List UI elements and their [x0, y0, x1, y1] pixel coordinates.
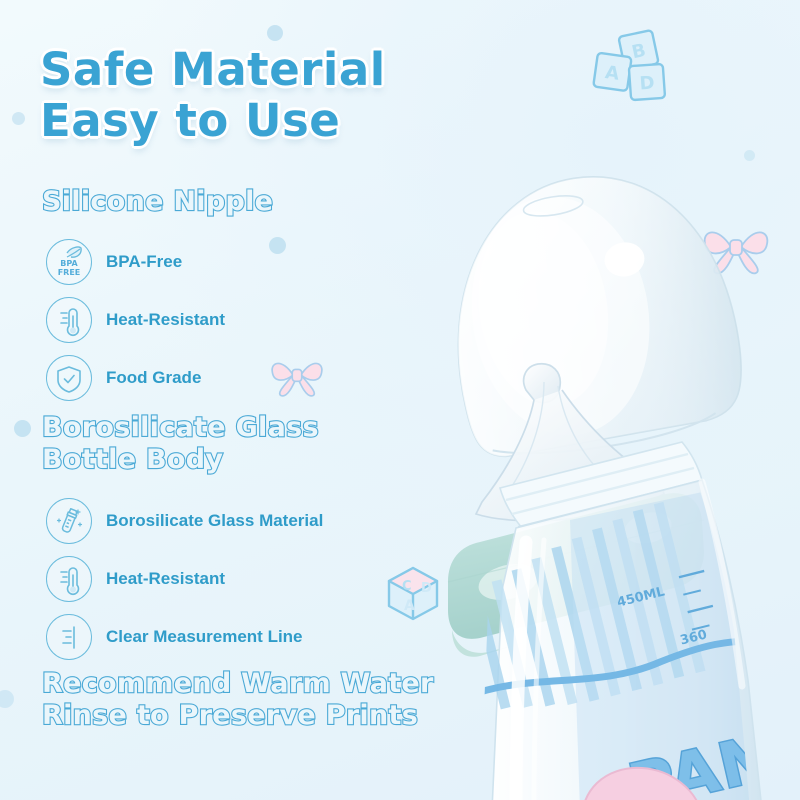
- shield-check-icon: [46, 355, 92, 401]
- bpa-free-icon: BPA FREE: [46, 239, 92, 285]
- feature-label: Clear Measurement Line: [106, 627, 303, 647]
- svg-text:FREE: FREE: [58, 268, 81, 277]
- feature-label: Heat-Resistant: [106, 569, 225, 589]
- section-title-silicone-nipple: Silicone Nipple: [42, 186, 273, 218]
- feature-borosilicate-glass-material: Borosilicate Glass Material: [46, 498, 323, 544]
- section-title-borosilicate-glass: Borosilicate Glass Bottle Body: [42, 412, 319, 476]
- glass-bottle-body: 450ML 360 PANTS: [462, 442, 800, 800]
- feature-clear-measurement-line: Clear Measurement Line: [46, 614, 303, 660]
- thermometer-icon: [46, 297, 92, 343]
- feature-label: Heat-Resistant: [106, 310, 225, 330]
- feature-label: BPA-Free: [106, 252, 182, 272]
- dot-top-center-icon: [267, 25, 283, 41]
- thermometer-icon: [46, 556, 92, 602]
- dot-mid-right-icon: [269, 237, 286, 254]
- feature-bpa-free: BPA FREE BPA-Free: [46, 239, 182, 285]
- infographic-poster: B A D C D A: [0, 0, 800, 800]
- page-title: Safe Material Easy to Use: [40, 44, 386, 146]
- dot-upper-left-icon: [12, 112, 25, 125]
- dome-cap: [432, 157, 752, 468]
- measurement-line-icon: [46, 614, 92, 660]
- baby-bottle-icon: [46, 498, 92, 544]
- dot-left-glass-icon: [14, 420, 31, 437]
- feature-label: Food Grade: [106, 368, 201, 388]
- bow-left-icon: [268, 352, 326, 398]
- feature-heat-resistant-nipple: Heat-Resistant: [46, 297, 225, 343]
- svg-text:A: A: [604, 62, 621, 85]
- feature-label: Borosilicate Glass Material: [106, 511, 323, 531]
- svg-text:BPA: BPA: [60, 259, 78, 268]
- section-title-recommend-rinse: Recommend Warm Water Rinse to Preserve P…: [42, 668, 434, 732]
- feature-heat-resistant-glass: Heat-Resistant: [46, 556, 225, 602]
- dot-bottom-left-icon: [0, 690, 14, 708]
- feature-food-grade: Food Grade: [46, 355, 201, 401]
